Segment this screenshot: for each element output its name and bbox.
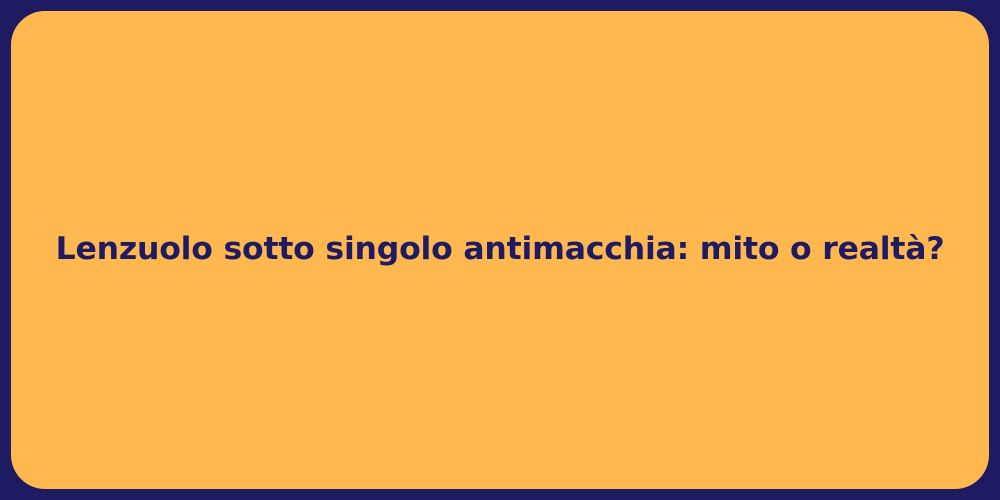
hero-card: Lenzuolo sotto singolo antimacchia: mito… — [11, 11, 989, 489]
hero-card-content: Lenzuolo sotto singolo antimacchia: mito… — [11, 230, 989, 269]
page-background: Lenzuolo sotto singolo antimacchia: mito… — [0, 0, 1000, 500]
page-title: Lenzuolo sotto singolo antimacchia: mito… — [56, 230, 945, 269]
